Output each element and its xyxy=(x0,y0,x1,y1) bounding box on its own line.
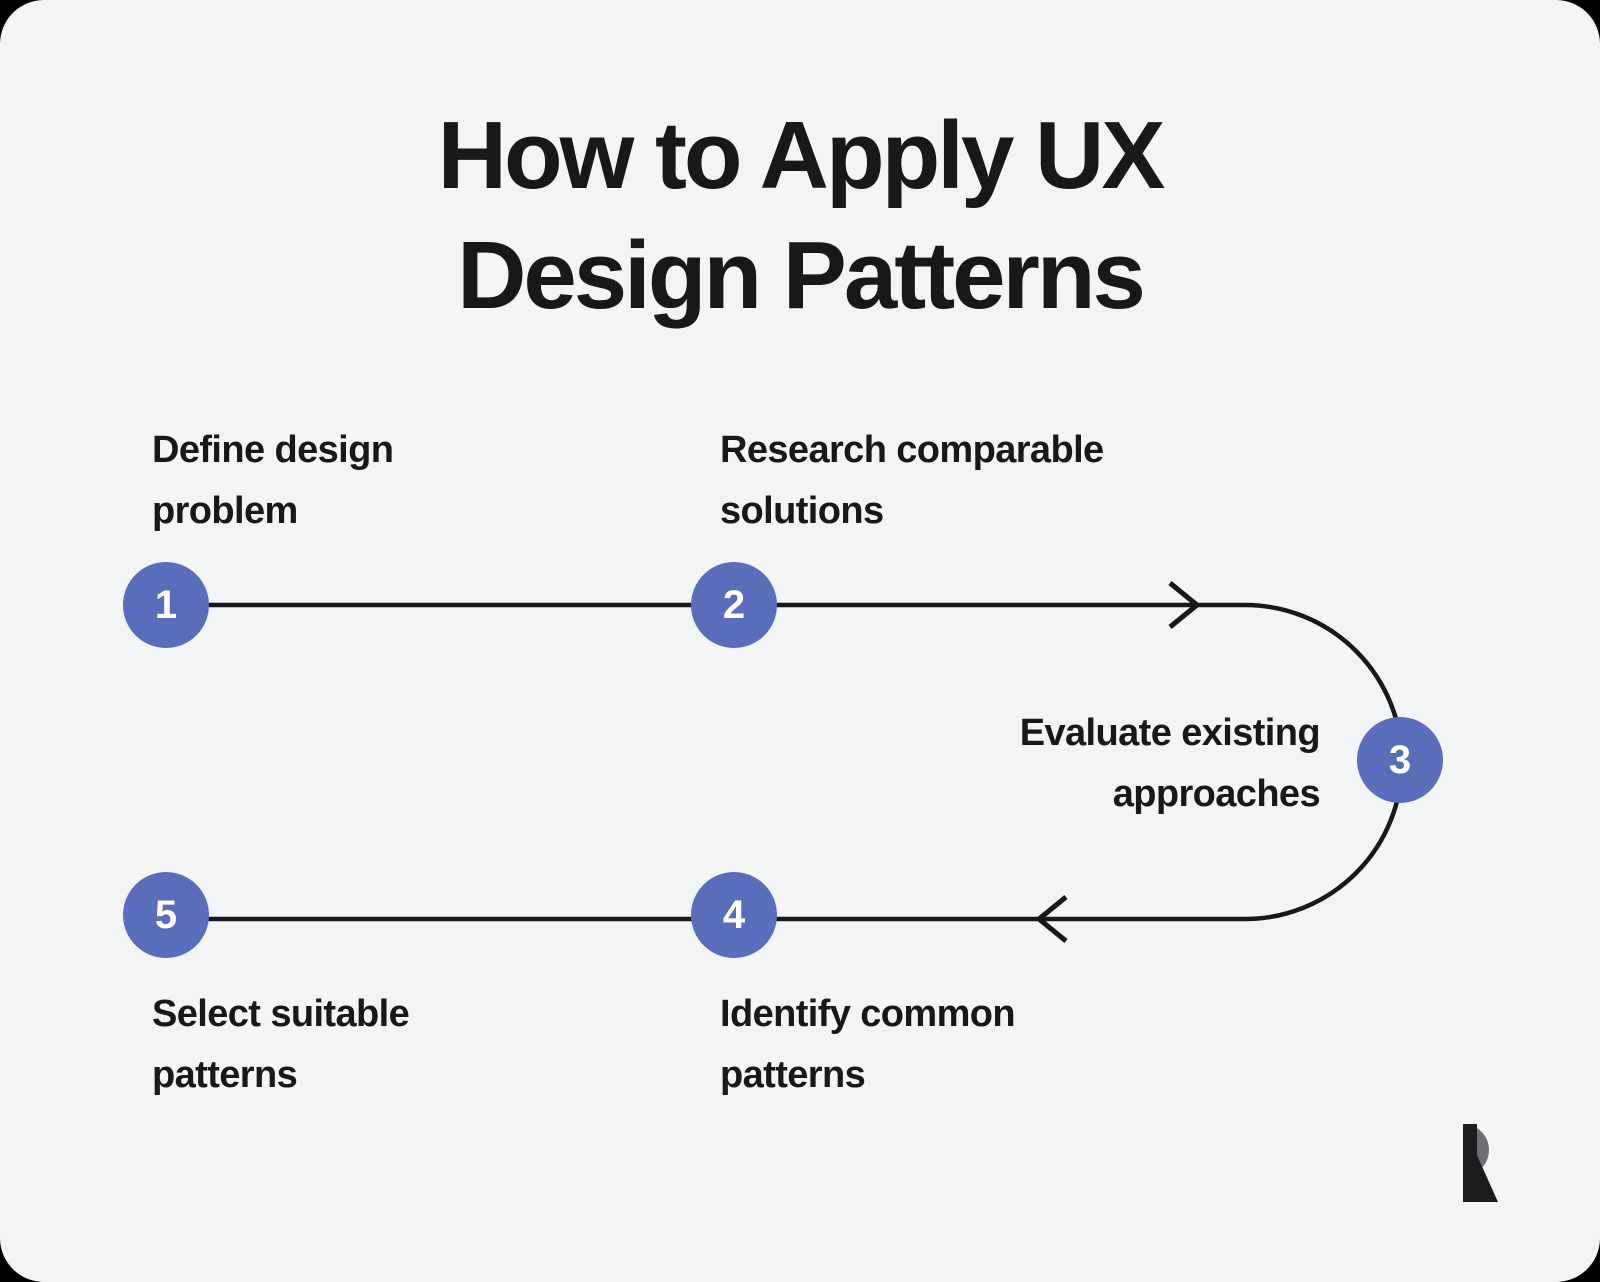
step-label-1: Define design problem xyxy=(152,420,572,542)
step-node-4[interactable]: 4 xyxy=(691,872,777,958)
step-node-1[interactable]: 1 xyxy=(123,562,209,648)
step-label-4: Identify common patterns xyxy=(720,984,1240,1106)
brand-logo-icon xyxy=(1443,1124,1507,1202)
process-flow-diagram: 1 2 3 4 5 Define design problem Research… xyxy=(0,0,1600,1282)
step-node-2[interactable]: 2 xyxy=(691,562,777,648)
step-node-3[interactable]: 3 xyxy=(1357,717,1443,803)
infographic-card: How to Apply UX Design Patterns 1 2 3 4 … xyxy=(0,0,1600,1282)
step-label-5: Select suitable patterns xyxy=(152,984,572,1106)
logo-stem-bar xyxy=(1463,1124,1477,1202)
step-node-5[interactable]: 5 xyxy=(123,872,209,958)
step-label-2: Research comparable solutions xyxy=(720,420,1240,542)
step-label-3: Evaluate existing approaches xyxy=(880,703,1320,825)
